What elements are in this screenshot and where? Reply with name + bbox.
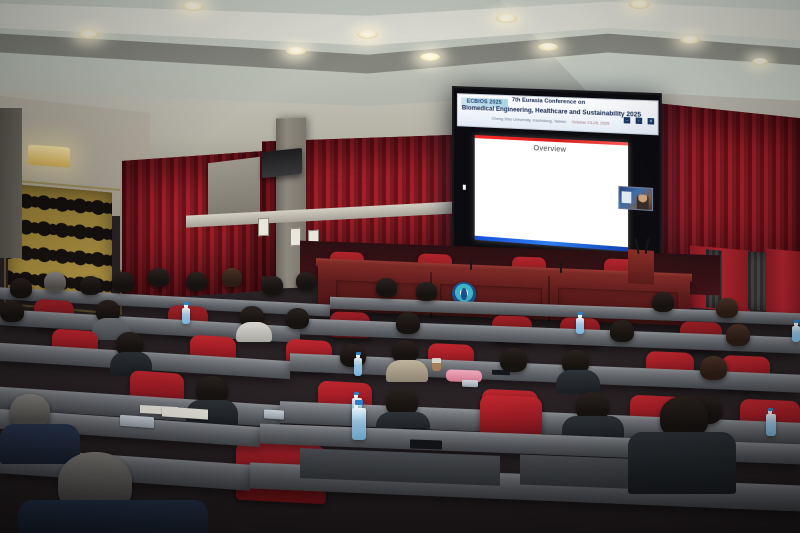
wall-mounted-loudspeaker <box>262 148 302 178</box>
attendee-head <box>222 268 242 287</box>
attendee-body <box>236 322 272 342</box>
attendee-head <box>148 268 169 287</box>
attendee-head <box>80 276 101 295</box>
conference-title-line1: 7th Eurasia Conference on <box>512 97 585 106</box>
attendee-head <box>0 300 24 322</box>
webcam-screen-share <box>622 191 632 203</box>
attendee-head <box>286 308 309 329</box>
attendee-head <box>416 282 437 301</box>
projection-screen[interactable]: ECBIOS 2025 7th Eurasia Conference on Bi… <box>452 86 662 267</box>
attendee-head <box>10 394 50 428</box>
water-bottle[interactable] <box>354 358 362 376</box>
downlight-icon <box>538 43 558 51</box>
downlight-icon <box>752 58 768 65</box>
stage-microphone <box>560 262 562 273</box>
maximize-icon[interactable]: ▫ <box>636 118 643 125</box>
attendee-head <box>112 272 134 292</box>
attendee-head <box>716 298 738 318</box>
attendee-body <box>0 424 80 464</box>
attendee-head <box>186 272 207 291</box>
attendee-head <box>44 272 66 292</box>
presentation-slide[interactable]: Overview <box>475 135 628 251</box>
auditorium-scene: ECBIOS 2025 7th Eurasia Conference on Bi… <box>0 0 800 533</box>
conference-title-line2: Biomedical Engineering, Healthcare and S… <box>462 104 641 118</box>
attendee-head <box>700 356 727 380</box>
attendee-body <box>628 432 736 494</box>
mouse-cursor-icon <box>463 185 466 190</box>
downlight-icon <box>286 47 306 55</box>
acoustic-slat-panel <box>748 251 766 311</box>
smartphone[interactable] <box>462 380 478 388</box>
conference-date: October 23-25, 2025 <box>572 119 610 126</box>
iced-coffee-cup[interactable] <box>432 358 441 371</box>
attendee-head <box>10 278 32 298</box>
attendee-head <box>262 276 283 295</box>
desk-microphone[interactable] <box>410 439 442 449</box>
wall-switch-plate[interactable] <box>258 218 269 237</box>
close-icon[interactable]: ✕ <box>648 118 655 125</box>
downlight-icon <box>420 53 440 61</box>
attendee-head <box>376 278 397 297</box>
webcam-person <box>637 194 649 209</box>
attendee-body <box>386 360 428 382</box>
wall-sconce <box>28 145 70 168</box>
conference-venue: Cheng Shiu University, Kaohsiung, Taiwan <box>492 116 567 124</box>
podium[interactable] <box>628 249 654 285</box>
water-bottle[interactable] <box>792 326 800 342</box>
attendee-head <box>652 292 674 312</box>
attendee-head <box>500 348 527 372</box>
desk-row <box>300 318 800 353</box>
red-acoustic-wall-panel <box>766 249 800 316</box>
water-bottle[interactable] <box>766 414 776 436</box>
water-bottle[interactable] <box>182 308 190 324</box>
downlight-icon <box>496 14 517 23</box>
presentation-banner: ECBIOS 2025 7th Eurasia Conference on Bi… <box>457 93 659 135</box>
left-column <box>0 108 22 258</box>
downlight-icon <box>78 30 99 39</box>
attendee-body <box>18 500 208 533</box>
attendee-head <box>340 344 366 367</box>
attendee-body <box>556 370 600 394</box>
water-bottle[interactable] <box>576 318 584 334</box>
downlight-icon <box>182 2 204 11</box>
downlight-icon <box>629 0 650 9</box>
attendee-head <box>610 320 634 342</box>
downlight-icon <box>357 30 378 39</box>
smartphone[interactable] <box>120 415 154 428</box>
desk-microphone[interactable] <box>492 370 510 376</box>
downlight-icon <box>680 36 700 44</box>
attendee-head <box>296 272 316 290</box>
webcam-thumbnail[interactable] <box>618 186 653 211</box>
attendee-head <box>726 324 750 346</box>
attendee-head <box>396 312 420 334</box>
minimize-icon[interactable]: – <box>624 117 630 124</box>
water-bottle[interactable] <box>352 408 366 440</box>
stage-microphone <box>470 258 472 270</box>
window-controls[interactable]: – ▫ ✕ <box>624 117 654 125</box>
